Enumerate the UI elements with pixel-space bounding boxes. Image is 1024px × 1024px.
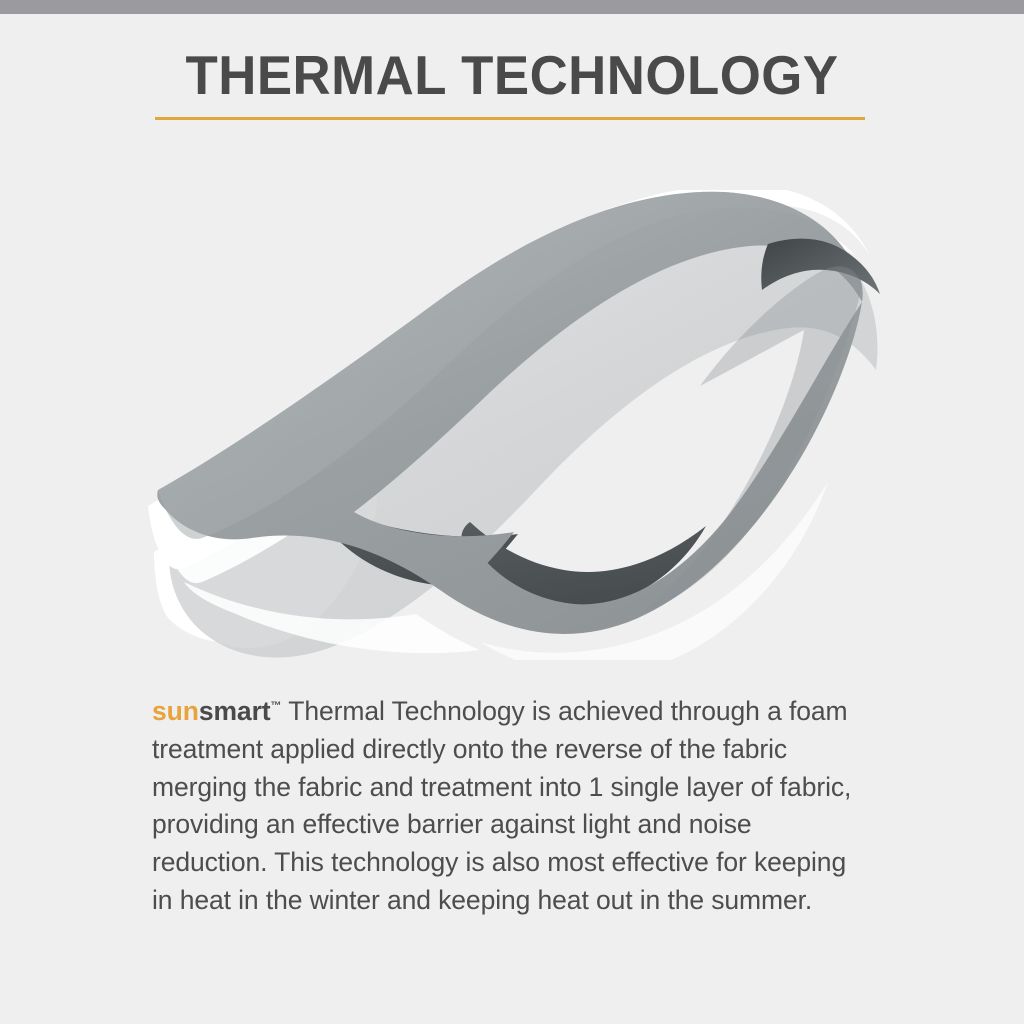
page-title: THERMAL TECHNOLOGY (20, 44, 1003, 106)
title-underline-rule (155, 117, 865, 120)
body-paragraph-text: Thermal Technology is achieved through a… (152, 696, 851, 915)
title-block: THERMAL TECHNOLOGY (0, 44, 1024, 106)
thermal-technology-page: THERMAL TECHNOLOGY (0, 0, 1024, 1024)
thermal-fabric-illustration (140, 190, 900, 660)
fabric-swatch-svg (140, 190, 900, 660)
trademark-icon: ™ (271, 700, 282, 712)
brand-sun-text: sun (152, 696, 199, 726)
brand-smart-text: smart (199, 696, 271, 726)
body-paragraph: sunsmart™ Thermal Technology is achieved… (152, 688, 868, 920)
